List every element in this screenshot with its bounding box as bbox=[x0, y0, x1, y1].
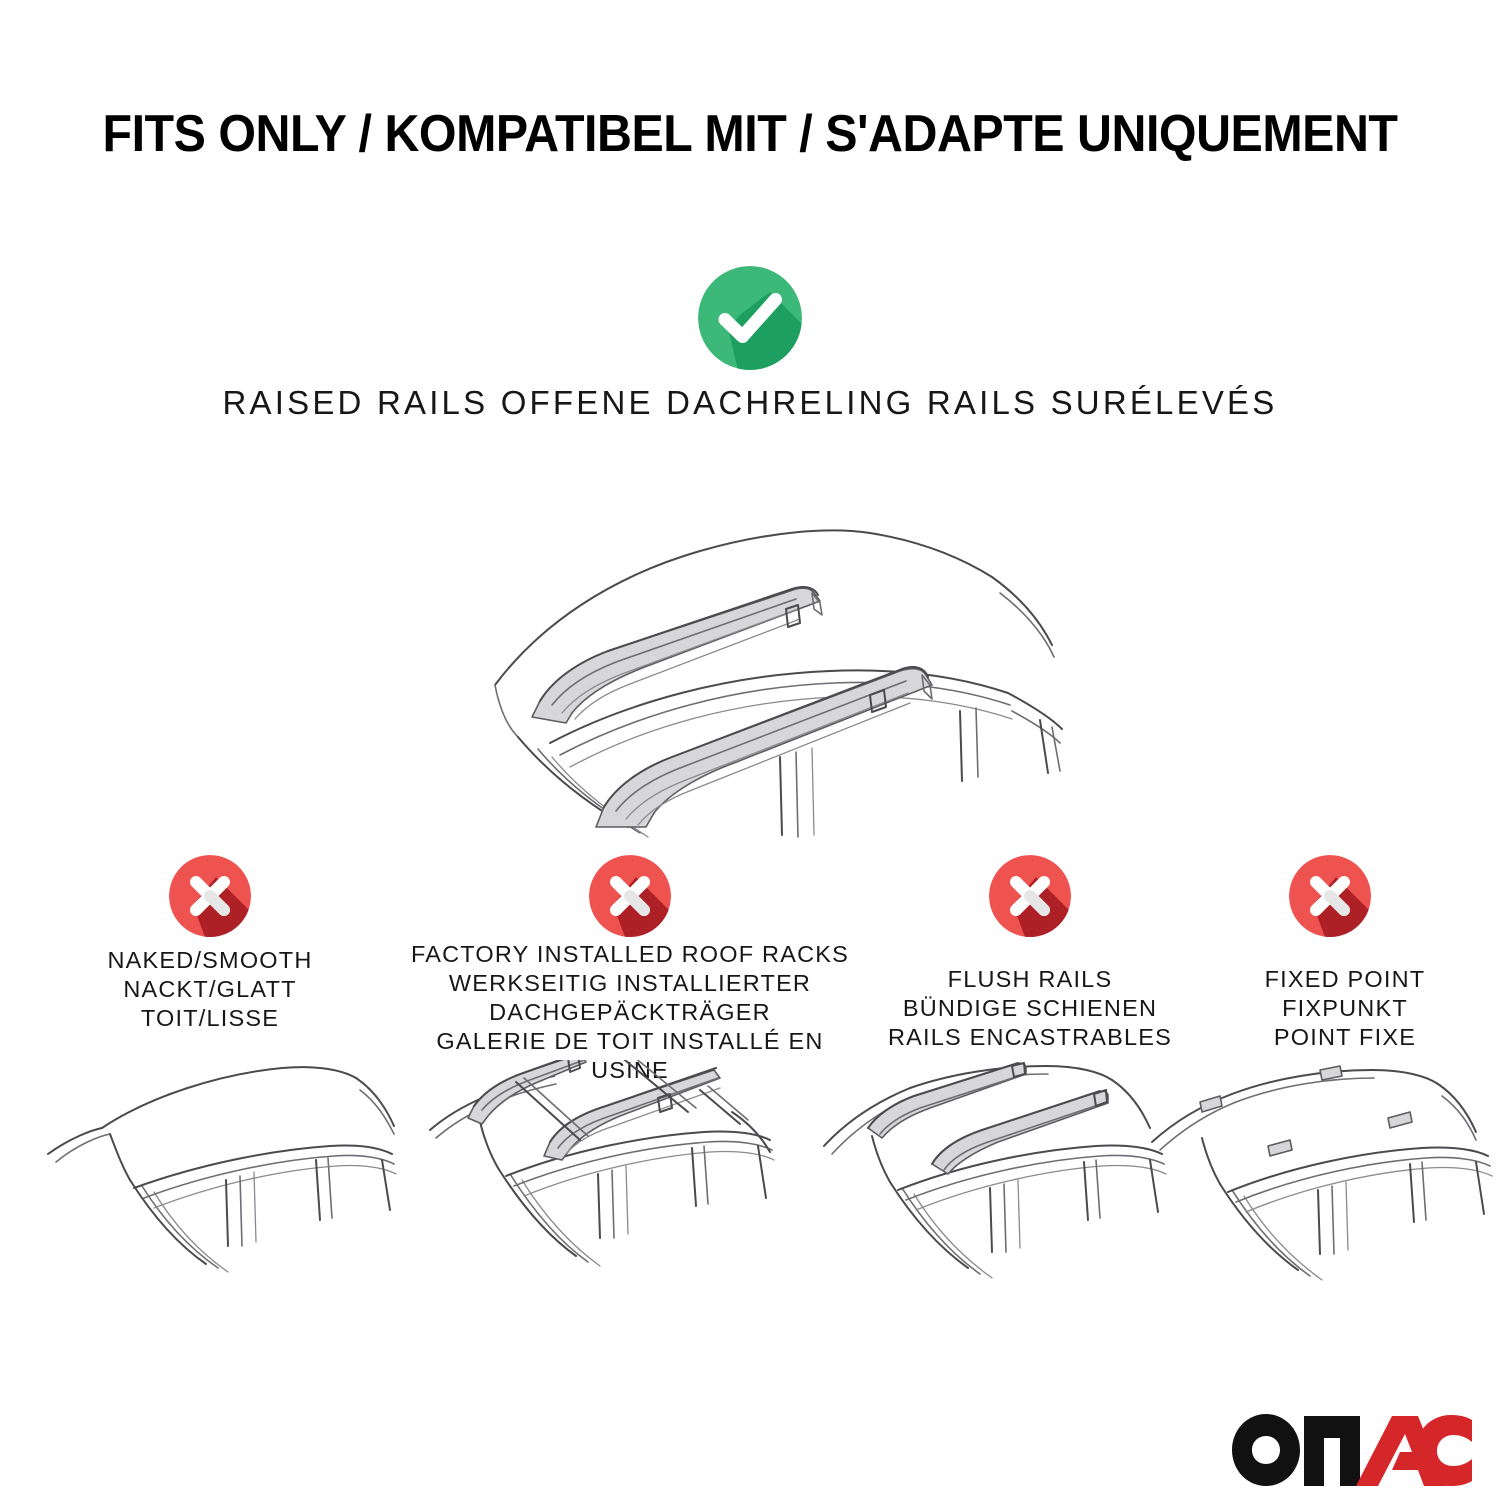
compatible-caption: RAISED RAILS OFFENE DACHRELING RAILS SUR… bbox=[0, 382, 1500, 423]
fitment-infographic: FITS ONLY / KOMPATIBEL MIT / S'ADAPTE UN… bbox=[0, 0, 1500, 1500]
x-circle-icon bbox=[589, 855, 671, 937]
car-roof-flush-rails-illustration bbox=[810, 1060, 1180, 1295]
x-circle-icon bbox=[169, 855, 251, 937]
check-circle-icon bbox=[698, 266, 802, 370]
car-roof-raised-rails-illustration bbox=[400, 505, 1100, 845]
incompatible-caption-fixed-point: FIXED POINT FIXPUNKT POINT FIXE bbox=[1160, 965, 1500, 1052]
incompatible-caption-naked-smooth: NAKED/SMOOTH NACKT/GLATT TOIT/LISSE bbox=[10, 946, 410, 1033]
logo-letter-m bbox=[1304, 1416, 1360, 1486]
logo-letter-o bbox=[1232, 1414, 1300, 1486]
omac-logo bbox=[1232, 1414, 1472, 1486]
car-roof-naked-smooth-illustration bbox=[30, 1060, 400, 1295]
x-circle-icon bbox=[1289, 855, 1371, 937]
car-roof-factory-racks-illustration bbox=[420, 1060, 790, 1295]
x-circle-icon bbox=[989, 855, 1071, 937]
car-roof-fixed-point-illustration bbox=[1140, 1060, 1500, 1295]
page-title: FITS ONLY / KOMPATIBEL MIT / S'ADAPTE UN… bbox=[53, 104, 1448, 164]
